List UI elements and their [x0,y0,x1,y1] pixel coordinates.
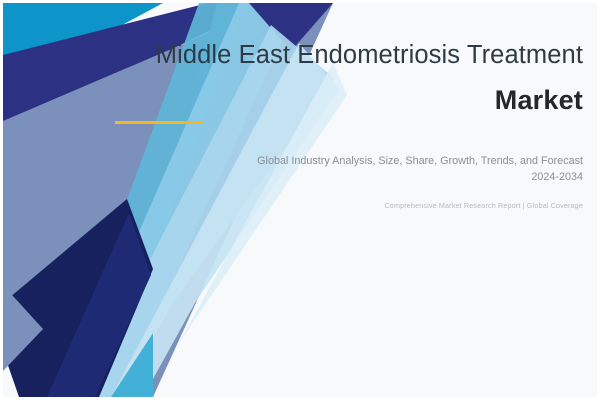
emphasis-word-block: Market [113,85,583,124]
report-title: Middle East Endometriosis Treatment [113,40,583,70]
cover-text-layer: Middle East Endometriosis Treatment Mark… [3,3,597,397]
accent-underline-rule [115,121,203,124]
report-cover: Middle East Endometriosis Treatment Mark… [0,0,600,400]
report-caption: Comprehensive Market Research Report | G… [253,201,583,211]
cover-canvas: Middle East Endometriosis Treatment Mark… [3,3,597,397]
report-subtitle: Global Industry Analysis, Size, Share, G… [253,154,583,185]
emphasis-word-market: Market [495,85,583,116]
